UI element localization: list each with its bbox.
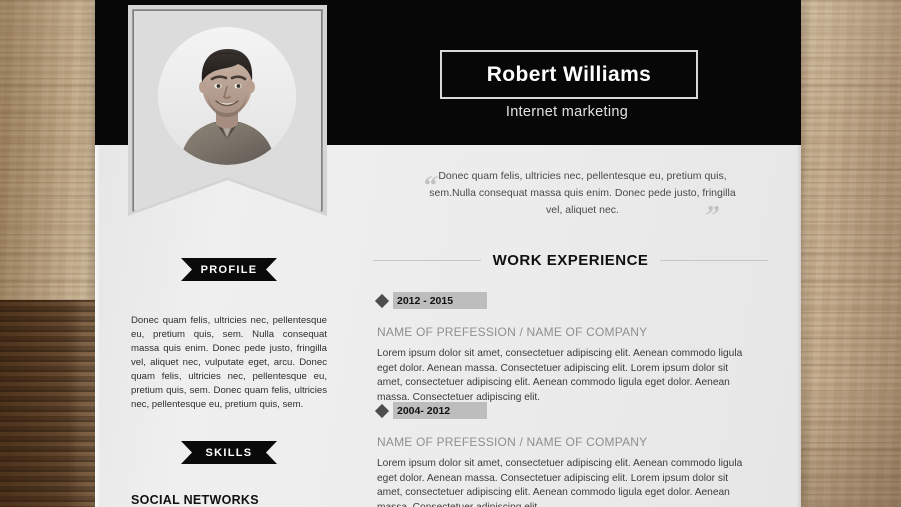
work-experience-heading: WORK EXPERIENCE	[373, 252, 768, 269]
section-title: WORK EXPERIENCE	[493, 252, 649, 269]
candidate-name: Robert Williams	[487, 63, 652, 87]
portrait-photo-icon	[158, 27, 296, 165]
date-pill: 2004- 2012	[393, 402, 487, 419]
name-plate: Robert Williams	[440, 50, 698, 99]
work-entry: 2012 - 2015 NAME OF PREFESSION / NAME OF…	[377, 292, 755, 405]
heading-rule-left	[373, 260, 481, 261]
entry-subtitle: NAME OF PREFESSION / NAME OF COMPANY	[377, 435, 755, 449]
profile-body: Donec quam felis, ultricies nec, pellent…	[131, 314, 327, 412]
entry-date-row: 2004- 2012	[377, 402, 755, 419]
date-pill: 2012 - 2015	[393, 292, 487, 309]
avatar	[158, 27, 296, 165]
entry-date: 2012 - 2015	[397, 295, 453, 307]
screenshot-stage: Robert Williams Internet marketing	[0, 0, 901, 507]
entry-body: Lorem ipsum dolor sit amet, consectetuer…	[377, 347, 755, 405]
heading-rule-right	[660, 260, 768, 261]
work-entry: 2004- 2012 NAME OF PREFESSION / NAME OF …	[377, 402, 755, 507]
profile-ribbon: PROFILE	[181, 258, 277, 281]
diamond-bullet-icon	[375, 293, 389, 307]
skills-ribbon-label: SKILLS	[206, 447, 253, 459]
job-title: Internet marketing	[440, 104, 694, 120]
diamond-bullet-icon	[375, 403, 389, 417]
entry-date-row: 2012 - 2015	[377, 292, 755, 309]
entry-subtitle: NAME OF PREFESSION / NAME OF COMPANY	[377, 325, 755, 339]
resume-page: Robert Williams Internet marketing	[95, 0, 801, 507]
skills-ribbon: SKILLS	[181, 441, 277, 464]
profile-ribbon-label: PROFILE	[201, 264, 258, 276]
quote-block: “ Donec quam felis, ultricies nec, pelle…	[395, 168, 770, 219]
entry-date: 2004- 2012	[397, 405, 450, 417]
social-networks-heading: SOCIAL NETWORKS	[131, 493, 259, 507]
entry-body: Lorem ipsum dolor sit amet, consectetuer…	[377, 457, 755, 507]
